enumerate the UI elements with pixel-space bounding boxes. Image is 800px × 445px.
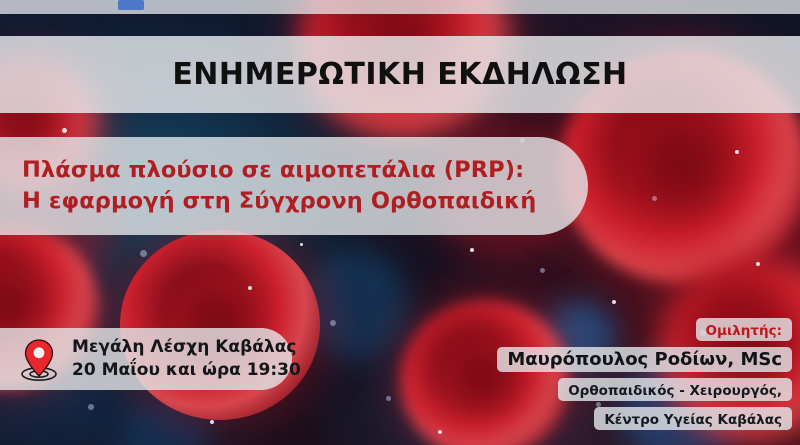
particle	[470, 248, 474, 252]
speaker-label: Ομιλητής:	[706, 323, 782, 339]
location-datetime: 20 Μαΐου και ώρα 19:30	[72, 360, 301, 381]
particle	[540, 268, 545, 273]
particle	[88, 404, 94, 410]
location-venue: Μεγάλη Λέσχη Καβάλας	[72, 337, 301, 358]
speaker-block: Ομιλητής: Μαυρόπουλος Ροδίων, MSc Ορθοπα…	[497, 318, 792, 430]
particle	[140, 250, 147, 257]
speaker-label-chip: Ομιλητής:	[696, 318, 792, 341]
particle	[300, 243, 303, 246]
top-cutoff-mark	[118, 0, 144, 10]
top-cutoff-strip	[0, 0, 800, 14]
speaker-role-line-1: Ορθοπαιδικός - Χειρουργός,	[568, 383, 782, 399]
particle	[330, 320, 336, 326]
red-blood-cell	[120, 230, 320, 420]
particle	[612, 300, 616, 304]
kicker-text: ΕΝΗΜΕΡΩΤΙΚΗ ΕΚΔΗΛΩΣΗ	[172, 57, 627, 92]
title-line-2: Η εφαρμογή στη Σύγχρονη Ορθοπαιδική	[22, 186, 588, 217]
title-banner: Πλάσμα πλούσιο σε αιμοπετάλια (PRP): Η ε…	[0, 137, 588, 235]
speaker-role-chip-1: Ορθοπαιδικός - Χειρουργός,	[558, 378, 792, 401]
location-text-block: Μεγάλη Λέσχη Καβάλας 20 Μαΐου και ώρα 19…	[72, 337, 301, 381]
particle	[735, 150, 739, 154]
kicker-band: ΕΝΗΜΕΡΩΤΙΚΗ ΕΚΔΗΛΩΣΗ	[0, 36, 800, 113]
particle	[248, 286, 252, 290]
speaker-role-line-2: Κέντρο Υγείας Καβάλας	[604, 412, 782, 428]
particle	[210, 420, 214, 424]
speaker-name: Μαυρόπουλος Ροδίων, MSc	[507, 349, 782, 370]
speaker-role-chip-2: Κέντρο Υγείας Καβάλας	[594, 407, 792, 430]
particle	[62, 128, 67, 133]
title-line-1: Πλάσμα πλούσιο σε αιμοπετάλια (PRP):	[22, 155, 588, 186]
location-banner: Μεγάλη Λέσχη Καβάλας 20 Μαΐου και ώρα 19…	[0, 328, 292, 390]
event-poster: ΕΝΗΜΕΡΩΤΙΚΗ ΕΚΔΗΛΩΣΗ Πλάσμα πλούσιο σε α…	[0, 0, 800, 445]
particle	[652, 196, 657, 201]
map-pin-icon	[18, 336, 60, 382]
particle	[438, 430, 442, 434]
particle	[756, 262, 760, 266]
speaker-name-chip: Μαυρόπουλος Ροδίων, MSc	[497, 347, 792, 372]
particle	[386, 396, 391, 401]
